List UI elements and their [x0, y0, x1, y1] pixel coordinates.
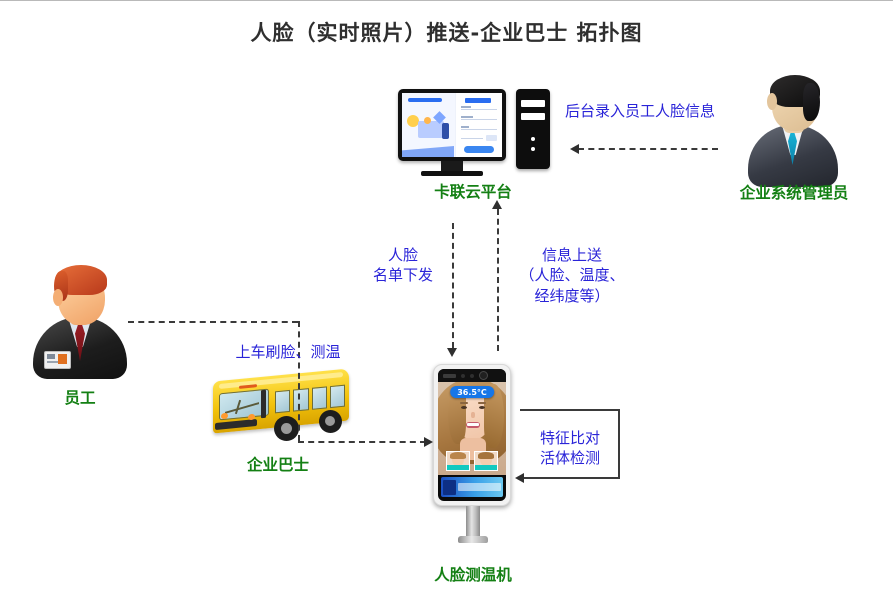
edge-label-terminal-to-cloud-line2: （人脸、温度、: [508, 265, 636, 285]
banner-thumb-icon: [443, 480, 456, 495]
terminal-screen: 36.5°C: [438, 369, 506, 501]
edge-label-terminal-to-cloud-line1: 信息上送: [508, 245, 636, 265]
face-terminal-node[interactable]: 36.5°C: [433, 364, 513, 543]
monitor-icon: [398, 89, 506, 161]
terminal-sensor-bar: [438, 369, 506, 382]
edge-label-cloud-to-terminal-line2: 名单下发: [362, 265, 444, 285]
edge-label-terminal-to-cloud-line3: 经纬度等）: [508, 286, 636, 306]
employee-label: 员工: [27, 389, 133, 408]
edge-label-employee-to-bus: 上车刷脸、测温: [218, 342, 358, 362]
employee-badge: [44, 351, 71, 369]
admin-node[interactable]: [740, 73, 846, 185]
edge-employee-down-segment: [298, 321, 300, 441]
admin-hair-side: [803, 83, 820, 121]
edge-label-terminal-loop-line1: 特征比对: [522, 428, 618, 448]
edge-admin-to-cloud-line: [578, 148, 718, 150]
edge-bus-to-terminal-segment: [298, 441, 426, 443]
edge-label-terminal-loop-line2: 活体检测: [522, 448, 618, 468]
terminal-ad-banner: [441, 477, 503, 497]
edge-bus-to-terminal-arrow: [424, 437, 433, 447]
bus-node[interactable]: [205, 367, 355, 447]
edge-terminal-to-cloud-arrow: [492, 200, 502, 209]
cloud-platform-node[interactable]: [398, 89, 506, 176]
camera-lens-icon: [461, 374, 465, 378]
loop-bottom-segment: [524, 477, 620, 479]
face-thumbnail: [474, 451, 498, 471]
edge-terminal-to-cloud-line: [497, 209, 499, 351]
terminal-label: 人脸测温机: [398, 566, 548, 585]
admin-ear: [767, 93, 777, 110]
bus-label: 企业巴士: [203, 456, 353, 475]
edge-admin-to-cloud-arrow: [570, 144, 579, 154]
employee-ear: [53, 289, 63, 306]
loop-arrow: [515, 473, 524, 483]
edge-label-employee-to-bus-text: 上车刷脸、测温: [235, 343, 340, 361]
bus-wheel-front: [274, 416, 299, 441]
monitor-neck: [441, 161, 463, 171]
admin-label: 企业系统管理员: [718, 184, 870, 203]
monitor-base: [421, 171, 483, 176]
edge-label-cloud-to-terminal-line1: 人脸: [362, 245, 444, 265]
banner-text-placeholder: [458, 483, 501, 491]
face-thumbnail-strip: [446, 451, 498, 471]
server-tower-icon: [516, 89, 550, 169]
edge-label-cloud-to-terminal: 人脸 名单下发: [362, 245, 444, 286]
edge-label-terminal-loop: 特征比对 活体检测: [522, 428, 618, 469]
login-illustration: [402, 93, 455, 157]
cloud-platform-label: 卡联云平台: [398, 183, 548, 202]
edge-label-admin-to-cloud-text: 后台录入员工人脸信息: [565, 102, 715, 120]
temperature-badge: 36.5°C: [450, 386, 494, 398]
face-thumbnail: [446, 451, 470, 471]
main-camera-icon: [479, 371, 488, 380]
terminal-housing: 36.5°C: [433, 364, 511, 506]
topology-diagram-canvas: 人脸（实时照片）推送-企业巴士 拓扑图: [0, 0, 893, 598]
loop-right-segment: [618, 409, 620, 479]
monitor-screen: [402, 93, 502, 157]
edge-cloud-to-terminal-line: [452, 223, 454, 348]
login-form: [455, 93, 502, 157]
edge-label-terminal-to-cloud: 信息上送 （人脸、温度、 经纬度等）: [508, 245, 636, 306]
terminal-stand-base: [458, 536, 488, 543]
edge-label-admin-to-cloud: 后台录入员工人脸信息: [560, 101, 720, 121]
bus-wheel-rear: [319, 410, 342, 433]
edge-employee-right-segment: [128, 321, 298, 323]
page-title: 人脸（实时照片）推送-企业巴士 拓扑图: [0, 17, 893, 47]
employee-node[interactable]: [27, 263, 133, 377]
edge-cloud-to-terminal-arrow: [447, 348, 457, 357]
terminal-stand-pole: [466, 506, 480, 536]
ir-sensor-icon: [470, 374, 474, 378]
speaker-slot-icon: [443, 374, 456, 378]
loop-top-segment: [520, 409, 620, 411]
